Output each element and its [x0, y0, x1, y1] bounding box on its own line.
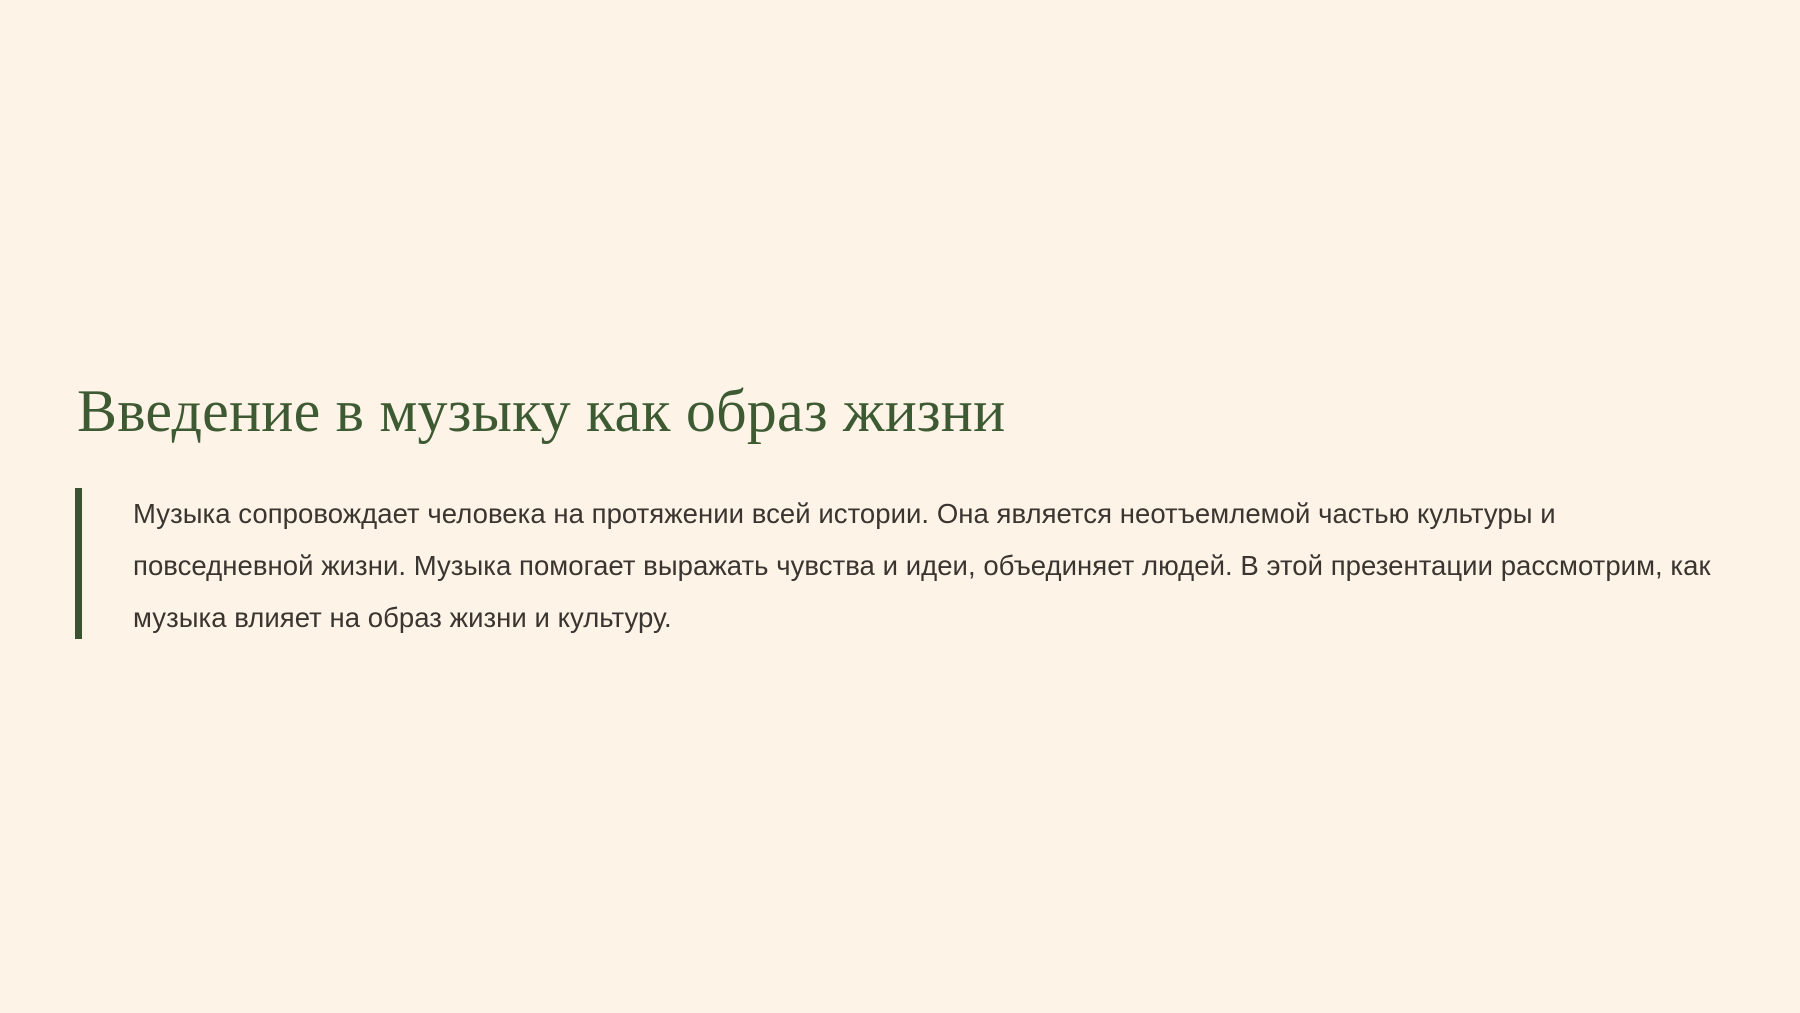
body-block: Музыка сопровождает человека на протяжен… — [75, 488, 1725, 644]
presentation-slide: Введение в музыку как образ жизни Музыка… — [0, 0, 1800, 1013]
slide-body-text: Музыка сопровождает человека на протяжен… — [133, 488, 1723, 644]
slide-content: Введение в музыку как образ жизни Музыка… — [75, 380, 1725, 644]
page-title: Введение в музыку как образ жизни — [75, 380, 1725, 444]
accent-bar — [75, 488, 82, 639]
